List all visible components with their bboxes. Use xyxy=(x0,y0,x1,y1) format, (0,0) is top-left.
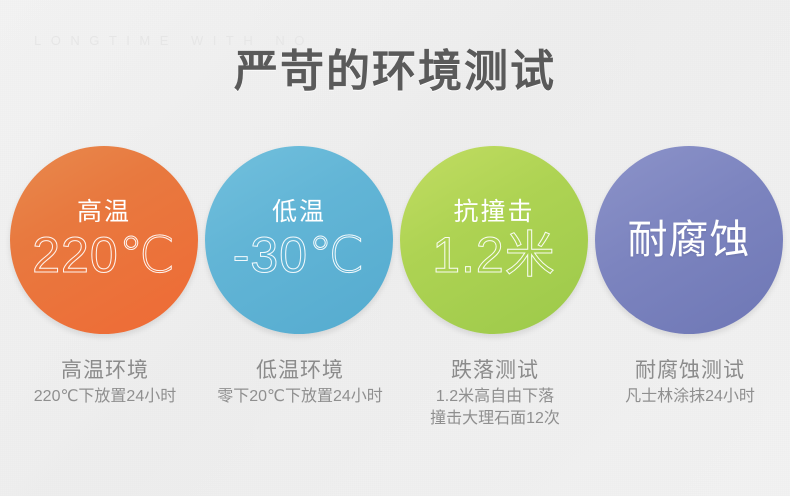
circle-label-high-temp: 高温 xyxy=(77,198,131,226)
feature-circle-low-temp: 低温 -30℃ xyxy=(205,146,393,334)
feature-column-drop-test: 抗撞击 1.2米 xyxy=(400,146,590,334)
caption-low-temp: 低温环境 零下20℃下放置24小时 xyxy=(205,356,395,408)
caption-sub-drop-test-1: 1.2米高自由下落 xyxy=(400,386,590,408)
promo-page: LONGTIME WITH NO 严苛的环境测试 高温 220℃ 低温 -30℃… xyxy=(0,0,790,496)
caption-sub-drop-test-2: 撞击大理石面12次 xyxy=(400,408,590,430)
caption-title-low-temp: 低温环境 xyxy=(205,356,395,386)
page-title: 严苛的环境测试 xyxy=(0,46,790,98)
feature-captions-row: 高温环境 220℃下放置24小时 低温环境 零下20℃下放置24小时 跌落测试 … xyxy=(0,356,790,466)
circle-label-low-temp: 低温 xyxy=(272,198,326,226)
caption-title-drop-test: 跌落测试 xyxy=(400,356,590,386)
feature-column-low-temp: 低温 -30℃ xyxy=(205,146,395,334)
caption-sub-corrosion-1: 凡士林涂抹24小时 xyxy=(595,386,785,408)
feature-circles-row: 高温 220℃ 低温 -30℃ 抗撞击 1.2米 耐腐蚀 xyxy=(0,146,790,338)
feature-circle-corrosion: 耐腐蚀 xyxy=(595,146,783,334)
circle-label-drop-test: 抗撞击 xyxy=(453,198,534,226)
circle-value-high-temp: 220℃ xyxy=(32,228,176,282)
caption-sub-high-temp-1: 220℃下放置24小时 xyxy=(10,386,200,408)
caption-sub-low-temp-1: 零下20℃下放置24小时 xyxy=(205,386,395,408)
circle-value-low-temp: -30℃ xyxy=(233,228,365,282)
caption-drop-test: 跌落测试 1.2米高自由下落 撞击大理石面12次 xyxy=(400,356,590,430)
caption-corrosion: 耐腐蚀测试 凡士林涂抹24小时 xyxy=(595,356,785,408)
circle-label-corrosion: 耐腐蚀 xyxy=(628,217,751,263)
feature-column-corrosion: 耐腐蚀 xyxy=(595,146,785,334)
feature-circle-drop-test: 抗撞击 1.2米 xyxy=(400,146,588,334)
caption-title-high-temp: 高温环境 xyxy=(10,356,200,386)
caption-high-temp: 高温环境 220℃下放置24小时 xyxy=(10,356,200,408)
feature-circle-high-temp: 高温 220℃ xyxy=(10,146,198,334)
feature-column-high-temp: 高温 220℃ xyxy=(10,146,200,334)
caption-title-corrosion: 耐腐蚀测试 xyxy=(595,356,785,386)
circle-value-drop-test: 1.2米 xyxy=(432,228,556,282)
